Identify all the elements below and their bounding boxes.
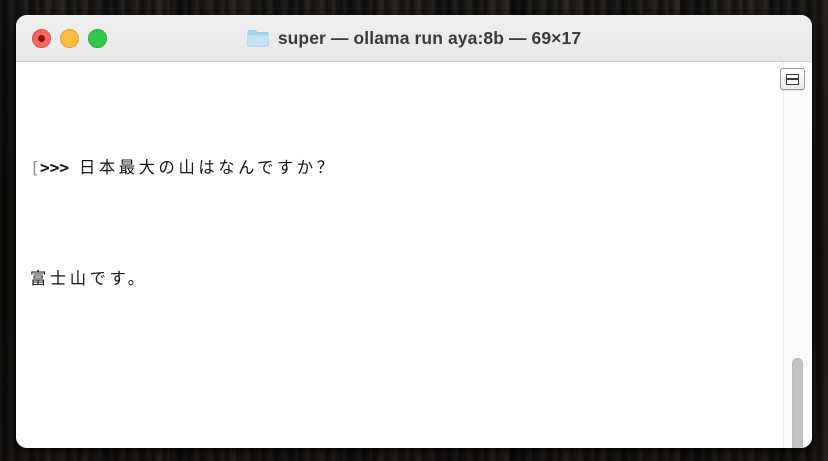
output-text-japanese: 富士山です。 bbox=[30, 269, 148, 288]
terminal-line-blank bbox=[30, 379, 776, 401]
traffic-light-group bbox=[16, 29, 107, 48]
vertical-scrollbar[interactable] bbox=[783, 62, 812, 448]
desktop-background: super — ollama run aya:8b — 69×17 [>>> 日… bbox=[0, 0, 828, 461]
close-button[interactable] bbox=[32, 29, 51, 48]
terminal-text: [>>> 日本最大の山はなんですか？] 富士山です。 [>>> /help] A… bbox=[30, 68, 776, 448]
window-titlebar[interactable]: super — ollama run aya:8b — 69×17 bbox=[16, 15, 812, 62]
scrollbar-thumb[interactable] bbox=[792, 358, 803, 448]
line-start-marker: [ bbox=[30, 158, 40, 177]
split-pane-icon[interactable] bbox=[780, 68, 805, 90]
prompt-text-japanese: 日本最大の山はなんですか？ bbox=[79, 158, 337, 177]
terminal-line-output-japanese: 富士山です。 bbox=[30, 268, 776, 290]
folder-icon bbox=[247, 29, 269, 47]
minimize-button[interactable] bbox=[60, 29, 79, 48]
prompt-symbol: >>> bbox=[40, 158, 79, 177]
split-pane-glyph bbox=[786, 74, 799, 85]
terminal-window: super — ollama run aya:8b — 69×17 [>>> 日… bbox=[16, 15, 812, 448]
window-title-group: super — ollama run aya:8b — 69×17 bbox=[16, 15, 812, 61]
window-title: super — ollama run aya:8b — 69×17 bbox=[278, 28, 581, 49]
terminal-content-area[interactable]: [>>> 日本最大の山はなんですか？] 富士山です。 [>>> /help] A… bbox=[16, 62, 812, 448]
terminal-line-prompt-japanese: [>>> 日本最大の山はなんですか？] bbox=[30, 157, 776, 179]
zoom-button[interactable] bbox=[88, 29, 107, 48]
